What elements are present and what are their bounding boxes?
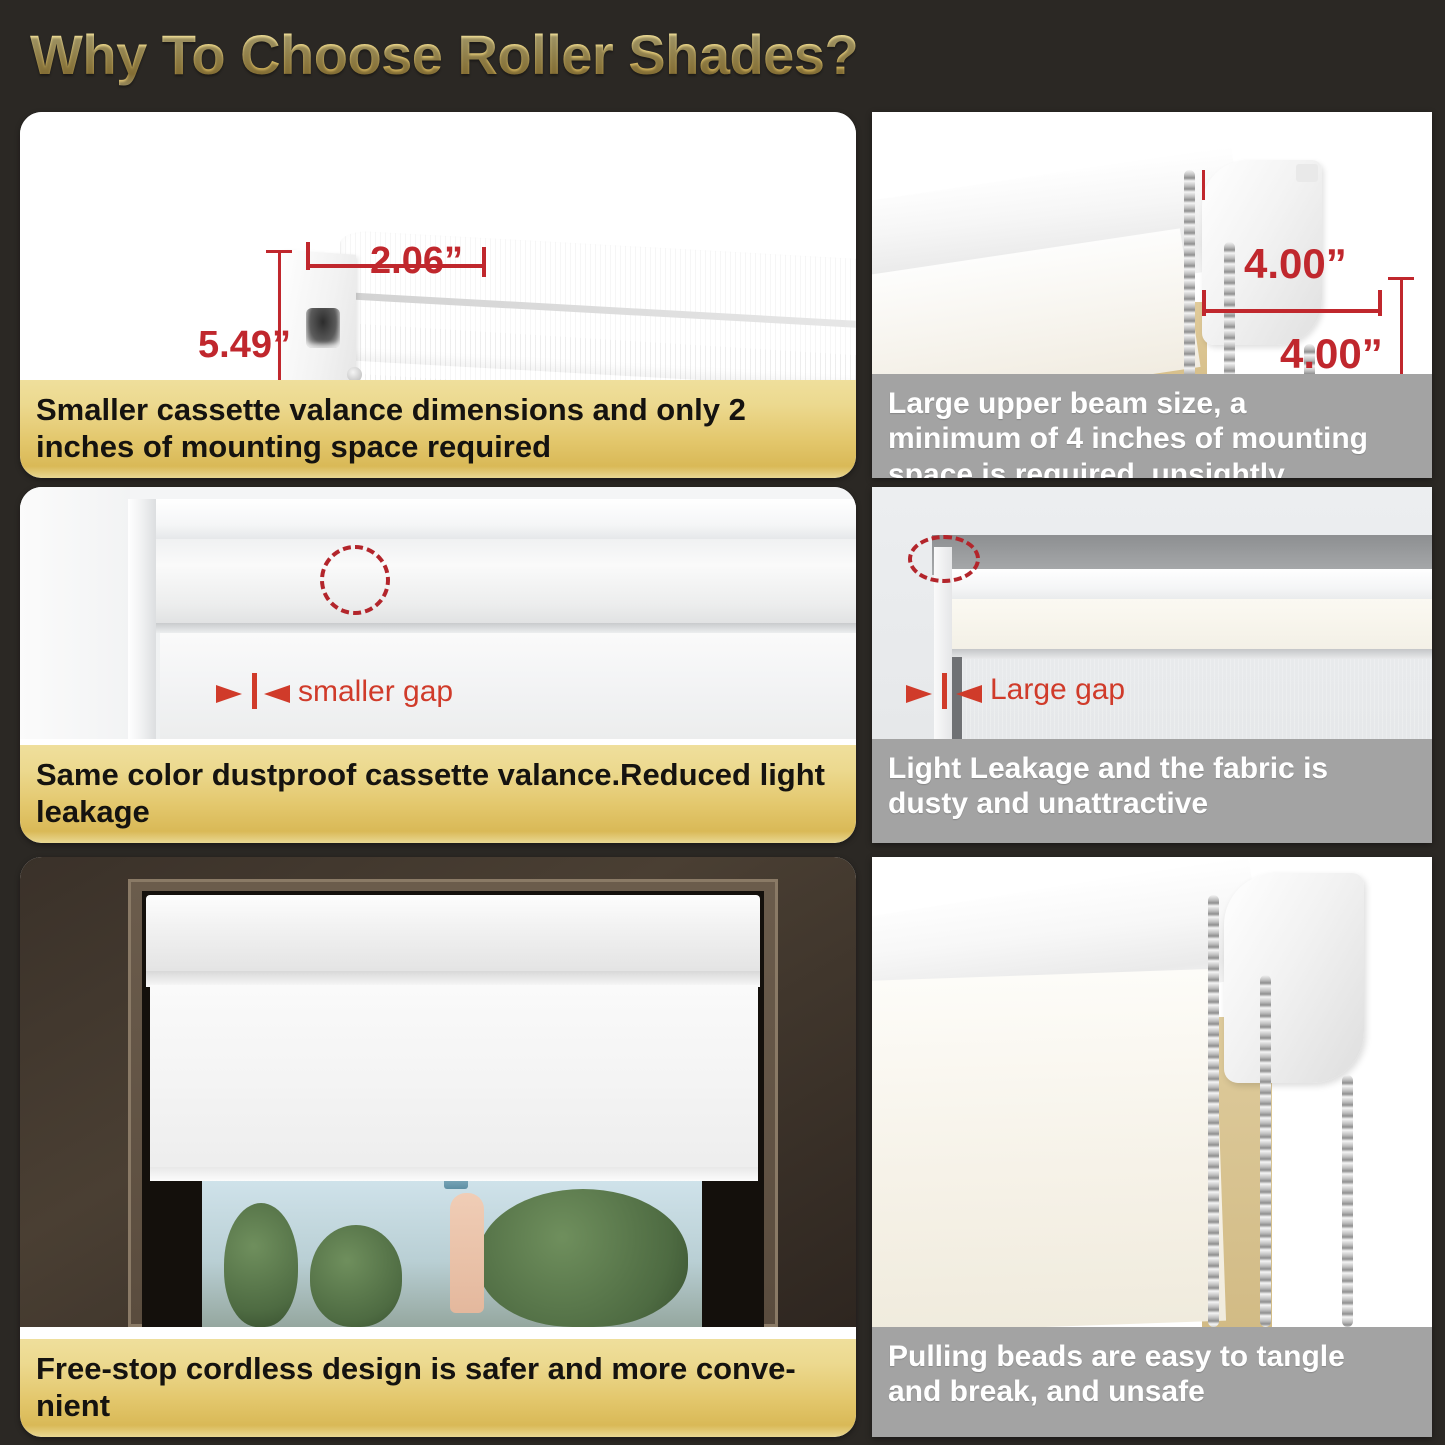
panel-large-upper-beam: 4.00” 4.00” Large upper beam size, a min… (872, 112, 1432, 478)
width-dim-tick-right (482, 247, 486, 277)
window-frame-left (128, 499, 156, 739)
beam-height-label: 4.00” (1280, 330, 1383, 378)
panel-caption: Free-stop cordless design is safer and m… (20, 1339, 856, 1437)
panel-cordless-design: Free-stop cordless design is safer and m… (20, 857, 856, 1437)
wall-surface (20, 487, 130, 739)
beam-width-dim-line (1202, 309, 1382, 313)
cassette-valance (146, 895, 760, 977)
panel-dustproof-cassette-valance: smaller gap Same color dustproof cassett… (20, 487, 856, 843)
photo-roller-bracket: 4.00” 4.00” (872, 112, 1432, 380)
height-dimension-label: 5.49” (198, 324, 291, 367)
tube-bottom-edge (950, 649, 1432, 659)
panel-pulling-beads: Pulling beads are easy to tangle and bre… (872, 857, 1432, 1437)
beam-height-tick-top (1388, 277, 1414, 280)
panel-caption: Pulling beads are easy to tangle and bre… (872, 1327, 1432, 1437)
gap-arrow-left-icon (906, 685, 932, 703)
photo-cassette-valance: 2.06” 5.49” (20, 112, 856, 380)
panel-caption: Same color dustproof cassette valance.Re… (20, 745, 856, 843)
width-dimension-label: 2.06” (370, 240, 463, 283)
window-frame-top (128, 499, 856, 541)
tree-right-icon (478, 1189, 688, 1327)
panel-caption: Large upper beam size, a minimum of 4 in… (872, 374, 1432, 478)
photo-window-scene (20, 857, 856, 1327)
highlight-circle-icon (908, 535, 980, 583)
shade-hem-bar (150, 1167, 758, 1181)
bead-chain-right[interactable] (1342, 1075, 1353, 1327)
bead-chain-left[interactable] (1184, 170, 1195, 380)
gap-marker-bar (942, 673, 947, 709)
comparison-grid: 2.06” 5.49” Smaller cassette valance dim… (0, 0, 1445, 1445)
photo-large-gap: Large gap (872, 487, 1432, 739)
shade-fabric (150, 985, 758, 1175)
gap-marker-bar (252, 673, 257, 709)
valance-bottom-edge (156, 623, 856, 633)
width-dim-tick-left (306, 242, 310, 270)
hand (450, 1193, 484, 1313)
beam-width-end-left (1202, 290, 1206, 316)
photo-window-cassette: smaller gap (20, 487, 856, 739)
gap-arrow-right-icon (264, 685, 290, 703)
photo-bead-chain-shade (872, 857, 1432, 1327)
highlight-circle-icon (320, 545, 390, 615)
gap-arrow-left-icon (216, 685, 242, 703)
gap-label: Large gap (990, 673, 1125, 707)
panel-cassette-valance-dimensions: 2.06” 5.49” Smaller cassette valance dim… (20, 112, 856, 478)
tree-left-icon (224, 1203, 298, 1327)
tree-mid-icon (310, 1225, 402, 1327)
bead-chain-middle[interactable] (1260, 975, 1271, 1327)
panel-light-leakage: Large gap Light Leakage and the fabric i… (872, 487, 1432, 843)
gap-label: smaller gap (298, 675, 453, 709)
gap-arrow-right-icon (956, 685, 982, 703)
beam-width-label: 4.00” (1244, 240, 1347, 288)
bracket-notch-icon (1296, 164, 1318, 182)
panel-caption: Smaller cassette valance dimensions and … (20, 380, 856, 478)
bracket-slot-icon (306, 308, 340, 348)
beam-width-end-right (1378, 290, 1382, 316)
roller-tube-lower (950, 599, 1432, 651)
white-shade-fabric (872, 969, 1226, 1333)
height-dim-tick-top (266, 250, 292, 253)
panel-caption: Light Leakage and the fabric is dusty an… (872, 739, 1432, 843)
bead-chain-left[interactable] (1208, 895, 1219, 1327)
mounting-bracket (1224, 873, 1364, 1083)
cassette-valance (156, 539, 856, 627)
beam-width-tick-left2 (1202, 180, 1205, 200)
